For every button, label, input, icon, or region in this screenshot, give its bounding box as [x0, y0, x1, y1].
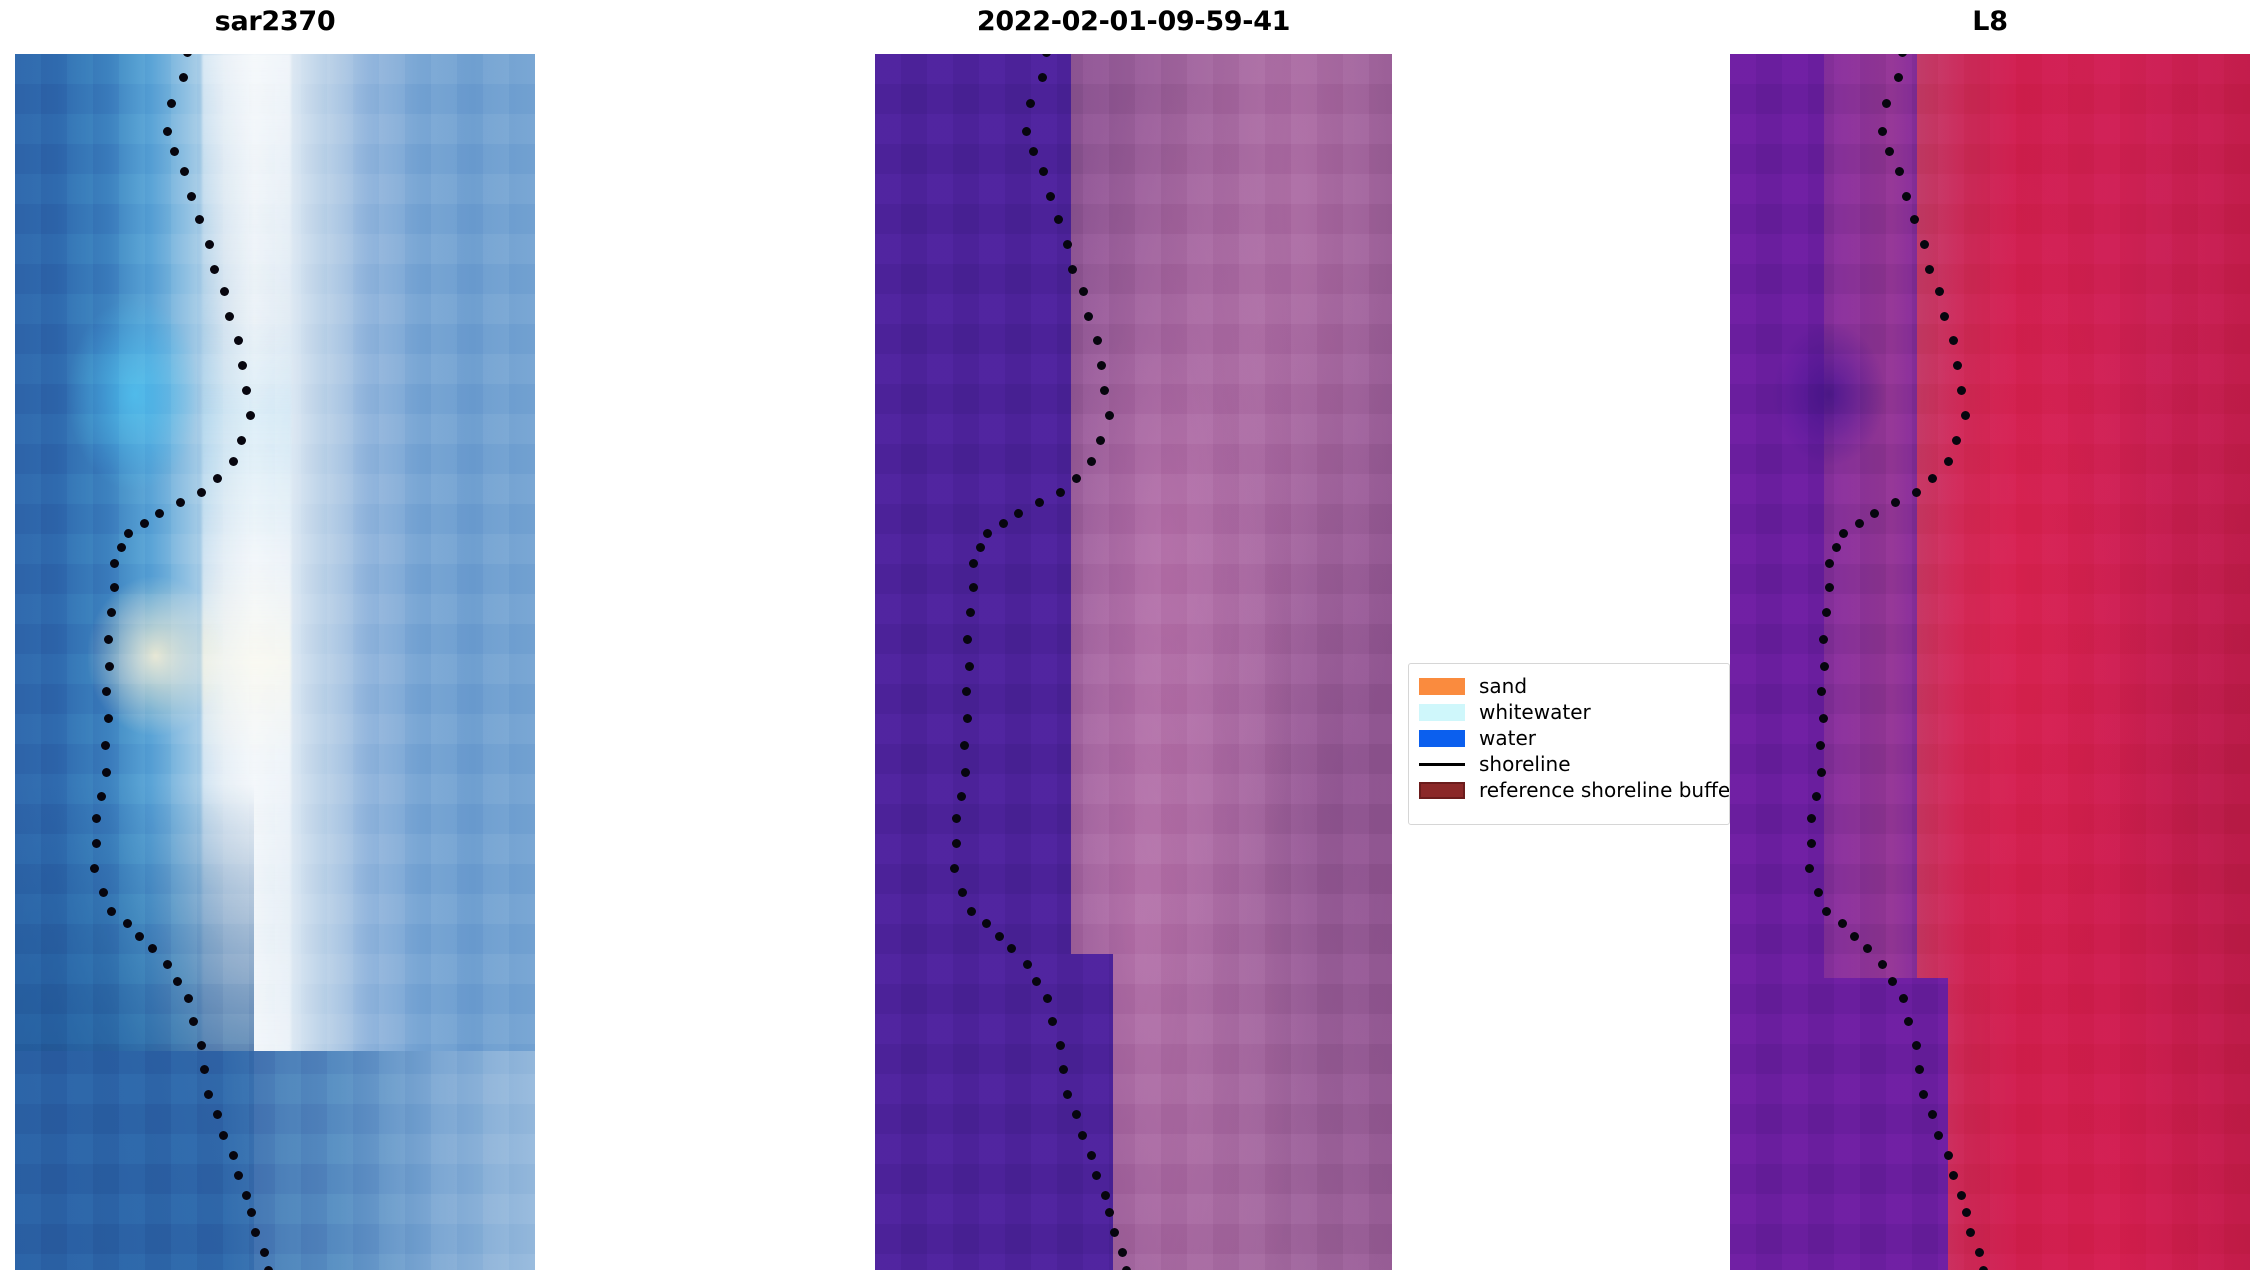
- shoreline-dot: [1975, 1248, 1984, 1257]
- shoreline-dot: [237, 436, 246, 445]
- shoreline-dot: [1014, 509, 1023, 518]
- shoreline-dot: [140, 519, 149, 528]
- shoreline-dot: [1807, 839, 1816, 848]
- shoreline-dot: [1944, 457, 1953, 466]
- shoreline-dot: [220, 287, 229, 296]
- legend-label-whitewater: whitewater: [1479, 702, 1591, 722]
- shoreline-dot: [205, 240, 214, 249]
- shoreline-dot: [1820, 662, 1829, 671]
- shoreline-dot: [1850, 932, 1859, 941]
- shoreline-dot: [110, 583, 119, 592]
- legend-item-shoreline: shoreline: [1419, 751, 1729, 777]
- shoreline-dot: [960, 741, 969, 750]
- shoreline-dot: [1888, 977, 1897, 986]
- shoreline-dot: [1904, 1017, 1913, 1026]
- shoreline-dot: [1105, 411, 1114, 420]
- reference-buffer-color-swatch: [1419, 782, 1465, 799]
- shoreline-dot: [1822, 907, 1831, 916]
- shoreline-dot: [1078, 1131, 1087, 1140]
- shoreline-dot: [229, 1151, 238, 1160]
- water-color-swatch: [1419, 730, 1465, 747]
- shoreline-dot: [1940, 312, 1949, 321]
- shoreline-dot: [163, 960, 172, 969]
- shoreline-dot: [238, 361, 247, 370]
- shoreline-dot: [963, 635, 972, 644]
- shoreline-dot: [1048, 1017, 1057, 1026]
- shoreline-dot: [210, 265, 219, 274]
- shoreline-dot: [1097, 361, 1106, 370]
- shoreline-dot: [1029, 147, 1038, 156]
- shoreline-dot: [1056, 1041, 1065, 1050]
- shoreline-dot: [1885, 147, 1894, 156]
- shoreline-dot: [1817, 768, 1826, 777]
- shoreline-dot: [1068, 265, 1077, 274]
- shoreline-dot: [1043, 994, 1052, 1003]
- shoreline-dot: [1807, 814, 1816, 823]
- shoreline-dot: [1046, 192, 1055, 201]
- shoreline-dot: [958, 888, 967, 897]
- shoreline-dot: [999, 519, 1008, 528]
- shoreline-dot: [1962, 1208, 1971, 1217]
- legend-label-water: water: [1479, 728, 1536, 748]
- shoreline-dot: [1944, 1151, 1953, 1160]
- shoreline-dot: [1092, 1171, 1101, 1180]
- shoreline-dot: [189, 1017, 198, 1026]
- shoreline-dot: [1096, 436, 1105, 445]
- shoreline-dot: [1093, 336, 1102, 345]
- shoreline-dot: [101, 741, 110, 750]
- shoreline-dot: [187, 192, 196, 201]
- shoreline-dot: [1957, 1191, 1966, 1200]
- shoreline-dot: [99, 888, 108, 897]
- shoreline-dot: [1902, 192, 1911, 201]
- shoreline-dot: [1819, 714, 1828, 723]
- shoreline-dot: [995, 932, 1004, 941]
- shoreline-dot: [1878, 960, 1887, 969]
- shoreline-dot: [1822, 608, 1831, 617]
- shoreline-dot: [1894, 73, 1903, 82]
- shoreline-dot: [961, 768, 970, 777]
- shoreline-dot: [1087, 1151, 1096, 1160]
- shoreline-dot: [1816, 741, 1825, 750]
- shoreline-dot: [104, 635, 113, 644]
- shoreline-dot: [1038, 73, 1047, 82]
- shoreline-dot: [163, 127, 172, 136]
- shoreline-dot: [246, 411, 255, 420]
- shoreline-dot: [148, 944, 157, 953]
- shoreline-dot: [234, 336, 243, 345]
- shoreline-dot: [1915, 1065, 1924, 1074]
- shoreline-dot: [1966, 1228, 1975, 1237]
- shoreline-dot: [976, 543, 985, 552]
- shoreline-dot: [242, 1191, 251, 1200]
- shoreline-line-marker: [1419, 763, 1465, 766]
- shoreline-dot: [952, 839, 961, 848]
- whitewater-color-swatch: [1419, 704, 1465, 721]
- shoreline-dot: [1105, 1208, 1114, 1217]
- shoreline-dot: [251, 1228, 260, 1237]
- shoreline-dot: [966, 608, 975, 617]
- legend-item-water: water: [1419, 725, 1729, 751]
- legend-box[interactable]: sand whitewater water shoreline referenc…: [1408, 663, 1730, 825]
- shoreline-dot: [247, 1208, 256, 1217]
- shoreline-dot: [135, 932, 144, 941]
- legend-label-reference-buffer: reference shoreline buffer: [1479, 780, 1730, 800]
- shoreline-dot: [1825, 559, 1834, 568]
- shoreline-dot: [104, 714, 113, 723]
- shoreline-dot: [1805, 864, 1814, 873]
- shoreline-dot: [1910, 215, 1919, 224]
- shoreline-dot: [1898, 54, 1907, 57]
- legend-item-whitewater: whitewater: [1419, 699, 1729, 725]
- shoreline-dot: [982, 919, 991, 928]
- shoreline-dot: [1035, 498, 1044, 507]
- l8-image-panel[interactable]: [1730, 54, 2250, 1270]
- shoreline-dot: [1079, 287, 1088, 296]
- shoreline-dot: [124, 529, 133, 538]
- shoreline-dot: [102, 768, 111, 777]
- shoreline-dot: [1072, 1110, 1081, 1119]
- shoreline-dot: [242, 386, 251, 395]
- shoreline-dot: [1949, 1171, 1958, 1180]
- shoreline-dot: [1122, 1266, 1131, 1270]
- shoreline-dot: [197, 488, 206, 497]
- shoreline-dot: [1891, 498, 1900, 507]
- shoreline-dot: [1863, 944, 1872, 953]
- shoreline-overlay-timestamp: [875, 54, 1392, 1270]
- shoreline-dot: [1819, 635, 1828, 644]
- shoreline-dot: [102, 687, 111, 696]
- shoreline-dot: [1920, 240, 1929, 249]
- panel-title-l8: L8: [1730, 8, 2250, 35]
- shoreline-dot: [1063, 240, 1072, 249]
- shoreline-overlay-l8: [1730, 54, 2250, 1270]
- shoreline-dot: [90, 864, 99, 873]
- shoreline-dot: [1839, 529, 1848, 538]
- shoreline-dot: [1087, 457, 1096, 466]
- shoreline-dot: [1814, 888, 1823, 897]
- shoreline-dot: [1953, 361, 1962, 370]
- shoreline-dot: [1919, 1090, 1928, 1099]
- shoreline-dot: [1979, 1266, 1988, 1270]
- shoreline-dot: [1912, 488, 1921, 497]
- shoreline-dot: [1101, 1191, 1110, 1200]
- shoreline-dot: [1825, 583, 1834, 592]
- shoreline-dot: [105, 662, 114, 671]
- shoreline-dot: [1855, 519, 1864, 528]
- shoreline-dot: [1032, 977, 1041, 986]
- shoreline-dot: [204, 1090, 213, 1099]
- shoreline-dot: [1961, 411, 1970, 420]
- shoreline-dot: [229, 457, 238, 466]
- shoreline-overlay-sar: [15, 54, 535, 1270]
- shoreline-dot: [1928, 474, 1937, 483]
- figure-canvas: sar2370 2022-02-01-09-59-41 L8: [0, 0, 2262, 1283]
- shoreline-dot: [957, 792, 966, 801]
- shoreline-dot: [179, 73, 188, 82]
- shoreline-dot: [969, 559, 978, 568]
- shoreline-dot: [1100, 386, 1109, 395]
- shoreline-dot: [1056, 488, 1065, 497]
- shoreline-dot: [167, 99, 176, 108]
- shoreline-dot: [983, 529, 992, 538]
- shoreline-dot: [1878, 127, 1887, 136]
- shoreline-dot: [180, 167, 189, 176]
- shoreline-dot: [1054, 215, 1063, 224]
- shoreline-dot: [1935, 287, 1944, 296]
- sand-color-swatch: [1419, 678, 1465, 695]
- shoreline-dot: [225, 312, 234, 321]
- shoreline-dot: [183, 54, 192, 57]
- shoreline-dot: [1957, 386, 1966, 395]
- shoreline-dot: [962, 687, 971, 696]
- shoreline-dot: [950, 864, 959, 873]
- shoreline-dot: [1022, 127, 1031, 136]
- shoreline-dot: [1084, 312, 1093, 321]
- shoreline-dot: [1118, 1248, 1127, 1257]
- shoreline-dot: [1059, 1065, 1068, 1074]
- shoreline-dot: [1899, 994, 1908, 1003]
- shoreline-dot: [92, 839, 101, 848]
- shoreline-dot: [173, 977, 182, 986]
- shoreline-dot: [97, 792, 106, 801]
- shoreline-dot: [155, 509, 164, 518]
- shoreline-dot: [1110, 1228, 1119, 1237]
- shoreline-dot: [176, 498, 185, 507]
- shoreline-dot: [1832, 543, 1841, 552]
- shoreline-dot: [200, 1065, 209, 1074]
- shoreline-dot: [117, 543, 126, 552]
- shoreline-dot: [213, 1110, 222, 1119]
- shoreline-dot: [1026, 99, 1035, 108]
- shoreline-dot: [1812, 792, 1821, 801]
- panel-title-sar2370: sar2370: [15, 8, 535, 35]
- shoreline-dot: [184, 994, 193, 1003]
- shoreline-dot: [967, 907, 976, 916]
- shoreline-dot: [234, 1171, 243, 1180]
- shoreline-dot: [1912, 1041, 1921, 1050]
- shoreline-dot: [195, 215, 204, 224]
- shoreline-dot: [260, 1248, 269, 1257]
- shoreline-dot: [1072, 474, 1081, 483]
- sar-image-panel[interactable]: [15, 54, 535, 1270]
- shoreline-dot: [197, 1041, 206, 1050]
- panel-title-timestamp: 2022-02-01-09-59-41: [875, 8, 1392, 35]
- timestamp-image-panel[interactable]: [875, 54, 1392, 1270]
- shoreline-dot: [213, 474, 222, 483]
- shoreline-dot: [1042, 54, 1051, 57]
- shoreline-dot: [1039, 167, 1048, 176]
- shoreline-dot: [1882, 99, 1891, 108]
- shoreline-dot: [107, 608, 116, 617]
- legend-item-reference-buffer: reference shoreline buffer: [1419, 777, 1729, 803]
- shoreline-dot: [969, 583, 978, 592]
- legend-item-sand: sand: [1419, 673, 1729, 699]
- shoreline-dot: [1895, 167, 1904, 176]
- shoreline-dot: [110, 559, 119, 568]
- shoreline-dot: [963, 714, 972, 723]
- shoreline-dot: [1952, 436, 1961, 445]
- shoreline-dot: [1007, 944, 1016, 953]
- shoreline-dot: [107, 907, 116, 916]
- shoreline-dot: [92, 814, 101, 823]
- shoreline-dot: [952, 814, 961, 823]
- shoreline-dot: [219, 1131, 228, 1140]
- shoreline-dot: [1928, 1110, 1937, 1119]
- shoreline-dot: [1925, 265, 1934, 274]
- shoreline-dot: [1934, 1131, 1943, 1140]
- shoreline-dot: [170, 147, 179, 156]
- shoreline-dot: [1063, 1090, 1072, 1099]
- shoreline-dot: [965, 662, 974, 671]
- shoreline-dot: [1817, 687, 1826, 696]
- shoreline-dot: [1949, 336, 1958, 345]
- shoreline-dot: [1838, 919, 1847, 928]
- shoreline-dot: [264, 1266, 273, 1270]
- shoreline-dot: [1023, 960, 1032, 969]
- legend-label-sand: sand: [1479, 676, 1527, 696]
- legend-label-shoreline: shoreline: [1479, 754, 1571, 774]
- shoreline-dot: [1870, 509, 1879, 518]
- shoreline-dot: [123, 919, 132, 928]
